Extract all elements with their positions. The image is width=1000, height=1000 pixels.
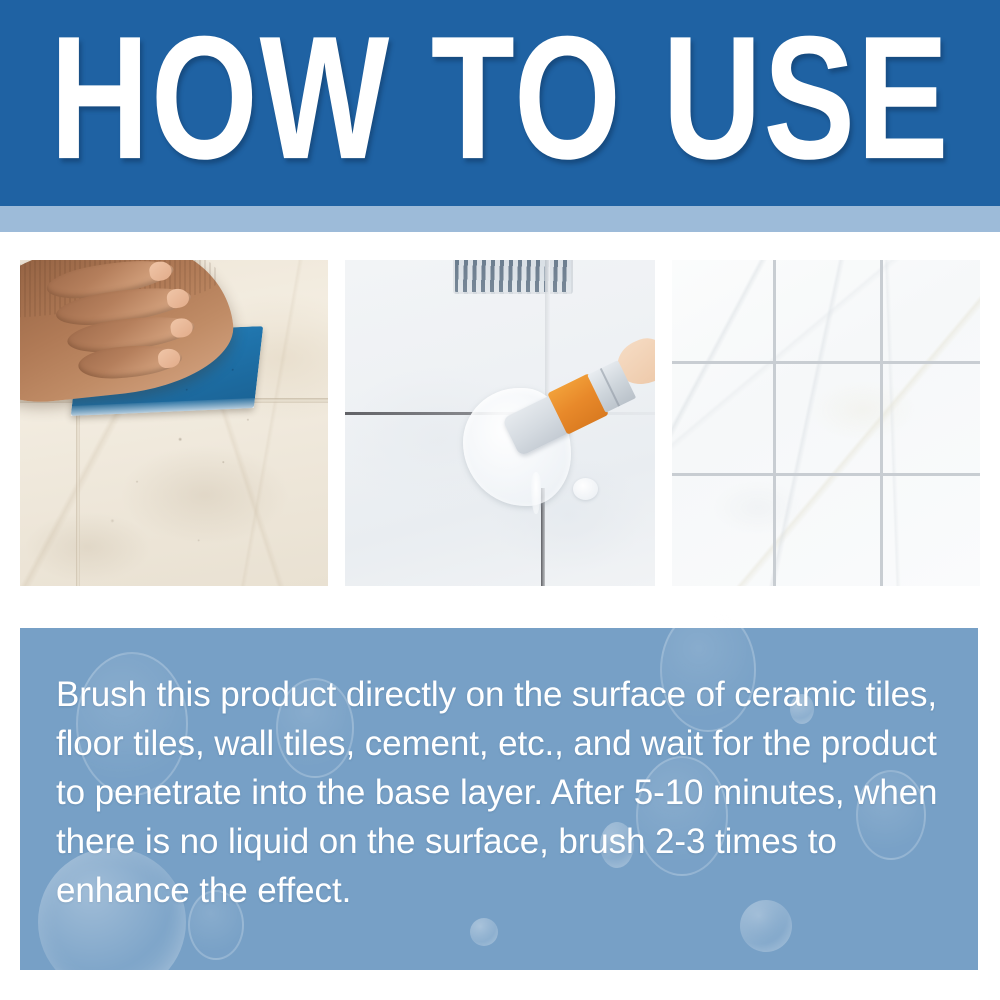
instructions-text: Brush this product directly on the surfa… <box>56 670 956 915</box>
photo-row <box>20 260 980 586</box>
instructions-panel: Brush this product directly on the surfa… <box>20 628 978 970</box>
photo-brushing-sealant-on-tile <box>345 260 655 586</box>
page-title: HOW TO USE <box>100 0 900 206</box>
fingernail <box>148 260 173 282</box>
header-banner: HOW TO USE <box>0 0 1000 206</box>
header-accent-strip <box>0 206 1000 232</box>
grout-line-horizontal <box>672 361 980 364</box>
grout-line-horizontal <box>672 473 980 476</box>
marble-veining <box>672 260 980 586</box>
photo-cleaning-tile-with-sponge <box>20 260 328 586</box>
grout-line-vertical <box>880 260 883 586</box>
fingernail <box>170 317 194 339</box>
floor-drain-grate <box>453 260 573 294</box>
fingers <box>44 260 214 390</box>
sealant-droplet <box>573 478 598 500</box>
photo-finished-white-tile-wall <box>672 260 980 586</box>
bubble-icon <box>520 590 556 626</box>
grout-line-vertical <box>773 260 776 586</box>
fingernail <box>157 348 181 369</box>
how-to-use-infographic: HOW TO USE <box>0 0 1000 1000</box>
fingernail <box>166 287 190 309</box>
